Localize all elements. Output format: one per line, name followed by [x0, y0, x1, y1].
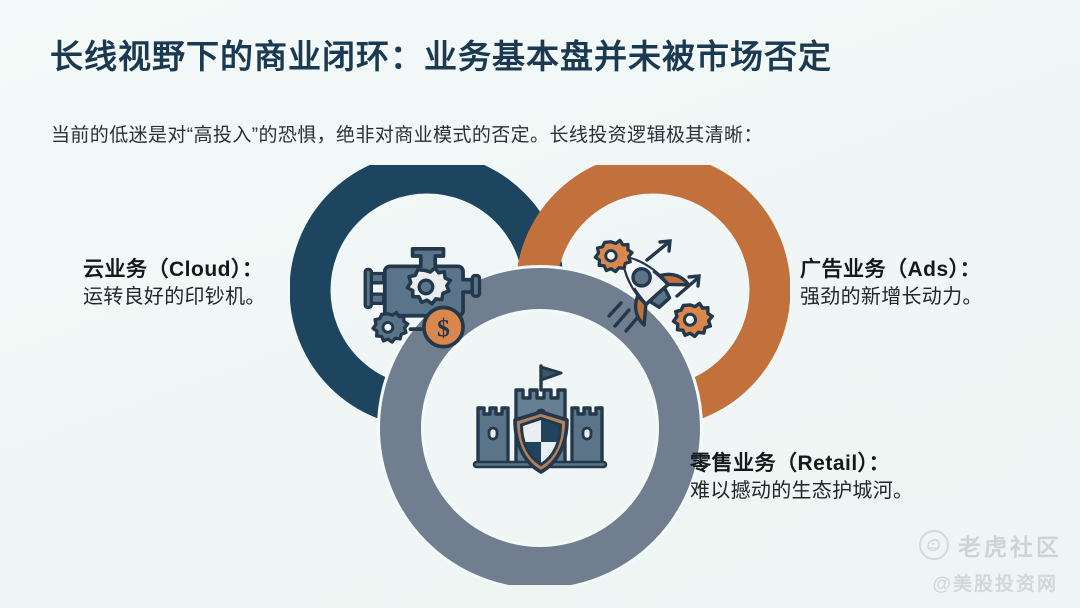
watermark-brand-text: 老虎社区 — [958, 528, 1062, 562]
label-cloud-head: 云业务（Cloud）： — [83, 256, 266, 284]
label-cloud: 云业务（Cloud）： 运转良好的印钞机。 — [83, 256, 266, 311]
label-retail-sub: 难以撼动的生态护城河。 — [690, 478, 913, 505]
watermark-handle: @美股投资网 — [932, 569, 1058, 596]
label-ads: 广告业务（Ads）： 强劲的新增长动力。 — [800, 256, 983, 311]
label-ads-sub: 强劲的新增长动力。 — [800, 284, 983, 311]
slide-canvas: 长线视野下的商业闭环：业务基本盘并未被市场否定 当前的低迷是对“高投入”的恐惧，… — [0, 0, 1080, 608]
venn-diagram: $ — [290, 165, 790, 585]
page-subtitle: 当前的低迷是对“高投入”的恐惧，绝非对商业模式的否定。长线投资逻辑极其清晰： — [51, 120, 763, 147]
label-ads-head: 广告业务（Ads）： — [800, 256, 983, 284]
label-cloud-sub: 运转良好的印钞机。 — [83, 284, 266, 311]
label-retail: 零售业务（Retail）： 难以撼动的生态护城河。 — [690, 450, 913, 505]
tiger-logo-icon — [919, 530, 949, 560]
svg-text:$: $ — [437, 313, 450, 342]
page-title: 长线视野下的商业闭环：业务基本盘并未被市场否定 — [50, 30, 832, 78]
watermark-brand: 老虎社区 — [919, 528, 1062, 562]
label-retail-head: 零售业务（Retail）： — [690, 450, 913, 478]
